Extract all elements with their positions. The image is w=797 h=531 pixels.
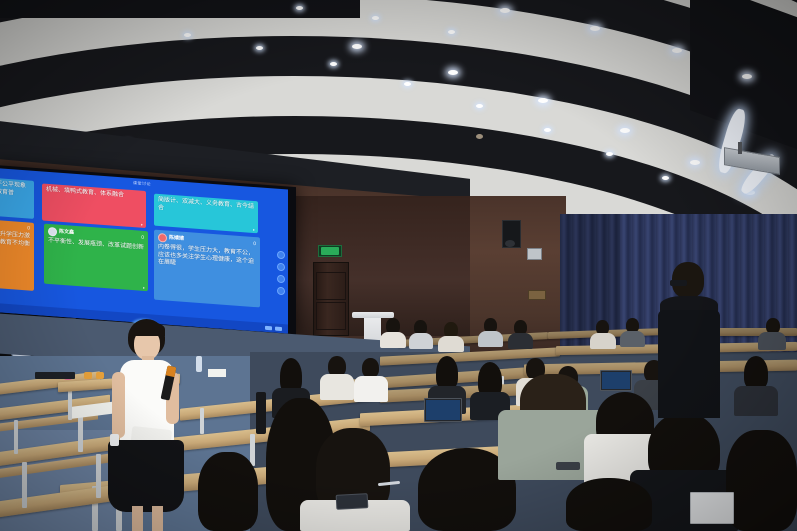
black-thermos: [256, 392, 266, 434]
tablet: [424, 398, 462, 422]
door-panel-bottom: [316, 302, 346, 330]
papers-on-table: [208, 369, 226, 377]
avatar: [158, 233, 167, 243]
projection-screen-frame: 课堂讨论 在区域不公平现象进步、教育普 0 育普及、升学压力激烈、城乡教育不均衡…: [0, 165, 296, 339]
wall-speaker-cone: [505, 240, 515, 247]
projector-mount: [738, 142, 742, 154]
screen-card-left-orange[interactable]: 0 育普及、升学压力激烈、城乡教育不均衡: [0, 218, 34, 291]
screen-card-red[interactable]: 机械、填鸭式教育、体系融合 ▸: [42, 183, 146, 228]
smartphone-on-desk: [336, 493, 369, 510]
presenter-left-arm: [112, 372, 125, 438]
screen-bottom-icon-2[interactable]: [265, 326, 272, 331]
projection-screen[interactable]: 课堂讨论 在区域不公平现象进步、教育普 0 育普及、升学压力激烈、城乡教育不均衡…: [0, 168, 288, 333]
screen-card-count: 0: [141, 235, 144, 241]
exit-sign-icon: [318, 245, 342, 257]
screen-card-left-blue[interactable]: 在区域不公平现象进步、教育普: [0, 176, 34, 218]
microphone-tip: [166, 365, 177, 376]
screen-card-cyan[interactable]: 简版计、双减大、义务教育、古今结合 ▸: [154, 194, 258, 234]
ceiling-dark-gap-top: [0, 0, 360, 18]
wall-control-panel: [527, 248, 542, 260]
lecture-hall-photo: 课堂讨论 在区域不公平现象进步、教育普 0 育普及、升学压力激烈、城乡教育不均衡…: [0, 0, 797, 531]
exit-sign-glow: [321, 247, 339, 255]
screen-card-text: 简版计、双减大、义务教育、古今结合: [158, 197, 254, 219]
door-panel-top: [316, 272, 346, 300]
screen-card-author: 陈文鑫: [59, 229, 74, 236]
screen-card-author: 陈婧婧: [169, 235, 184, 242]
presenter-skirt: [108, 440, 184, 512]
orange-object-1: [84, 372, 92, 379]
screen-card-corner-icon: ▸: [253, 227, 255, 232]
smoke-detector-icon: [476, 134, 483, 139]
phone-held: [556, 462, 580, 470]
screen-card-corner-icon: ▸: [141, 222, 143, 227]
laptop-front: [690, 492, 734, 524]
screen-card-corner-icon: ▸: [143, 285, 145, 290]
avatar: [48, 227, 57, 237]
eyeglasses-icon: [670, 280, 687, 286]
screen-card-text: 机械、填鸭式教育、体系融合: [46, 187, 142, 202]
screen-card-text: 内卷得很，学生压力大，教育不公，应该也多关注学生心理健康，这个迫在眉睫: [158, 244, 256, 274]
screen-card-right-blue[interactable]: 陈婧婧 0 内卷得很，学生压力大，教育不公，应该也多关注学生心理健康，这个迫在眉…: [154, 230, 260, 308]
screen-card-text: 在区域不公平现象进步、教育普: [0, 180, 30, 199]
screen-card-count: 0: [27, 225, 30, 231]
water-bottle: [196, 356, 202, 372]
laptop: [600, 370, 632, 391]
presenter-fringe: [131, 322, 165, 336]
orange-object-2: [96, 372, 104, 379]
screen-control-button-3[interactable]: [277, 275, 285, 284]
wall-sign-plate: [528, 290, 546, 300]
screen-card-header: 0: [0, 222, 30, 232]
screen-card-count: 0: [253, 241, 256, 247]
screen-bottom-icon-1[interactable]: [275, 327, 282, 332]
presenter-right-leg: [152, 506, 163, 531]
dark-case-on-table: [35, 372, 75, 379]
laptop-screen: [602, 372, 630, 389]
screen-card-green[interactable]: 陈文鑫 0 不平衡性、发展瓶颈、改革试题创新 ▸: [44, 224, 148, 292]
tablet-screen: [426, 400, 460, 420]
presenter-left-leg: [132, 506, 143, 531]
screen-control-button-2[interactable]: [277, 263, 285, 272]
presenter-held-object: [110, 434, 119, 446]
screen-card-text: 育普及、升学压力激烈、城乡教育不均衡: [0, 230, 30, 249]
screen-control-button-4[interactable]: [277, 287, 285, 296]
screen-control-button-1[interactable]: [277, 251, 285, 260]
screen-window-title: 课堂讨论: [133, 180, 151, 187]
